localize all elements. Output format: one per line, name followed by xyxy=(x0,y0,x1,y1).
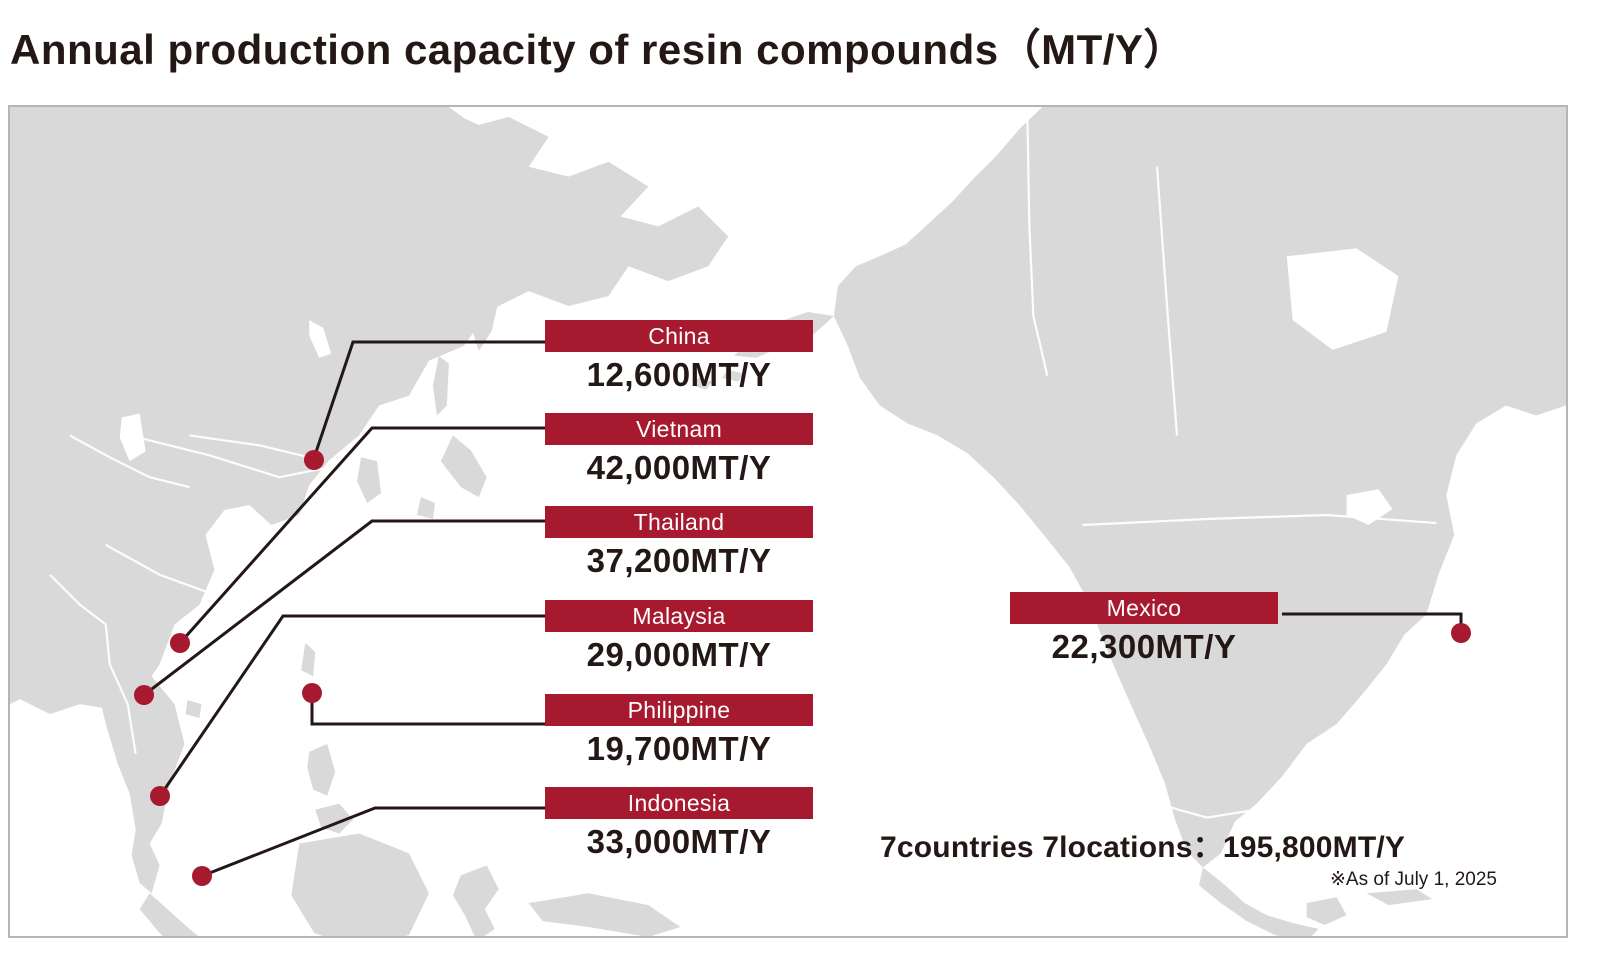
world-map-graphic xyxy=(10,107,1566,936)
world-map-panel xyxy=(8,105,1568,938)
page-title: Annual production capacity of resin comp… xyxy=(10,16,1186,77)
